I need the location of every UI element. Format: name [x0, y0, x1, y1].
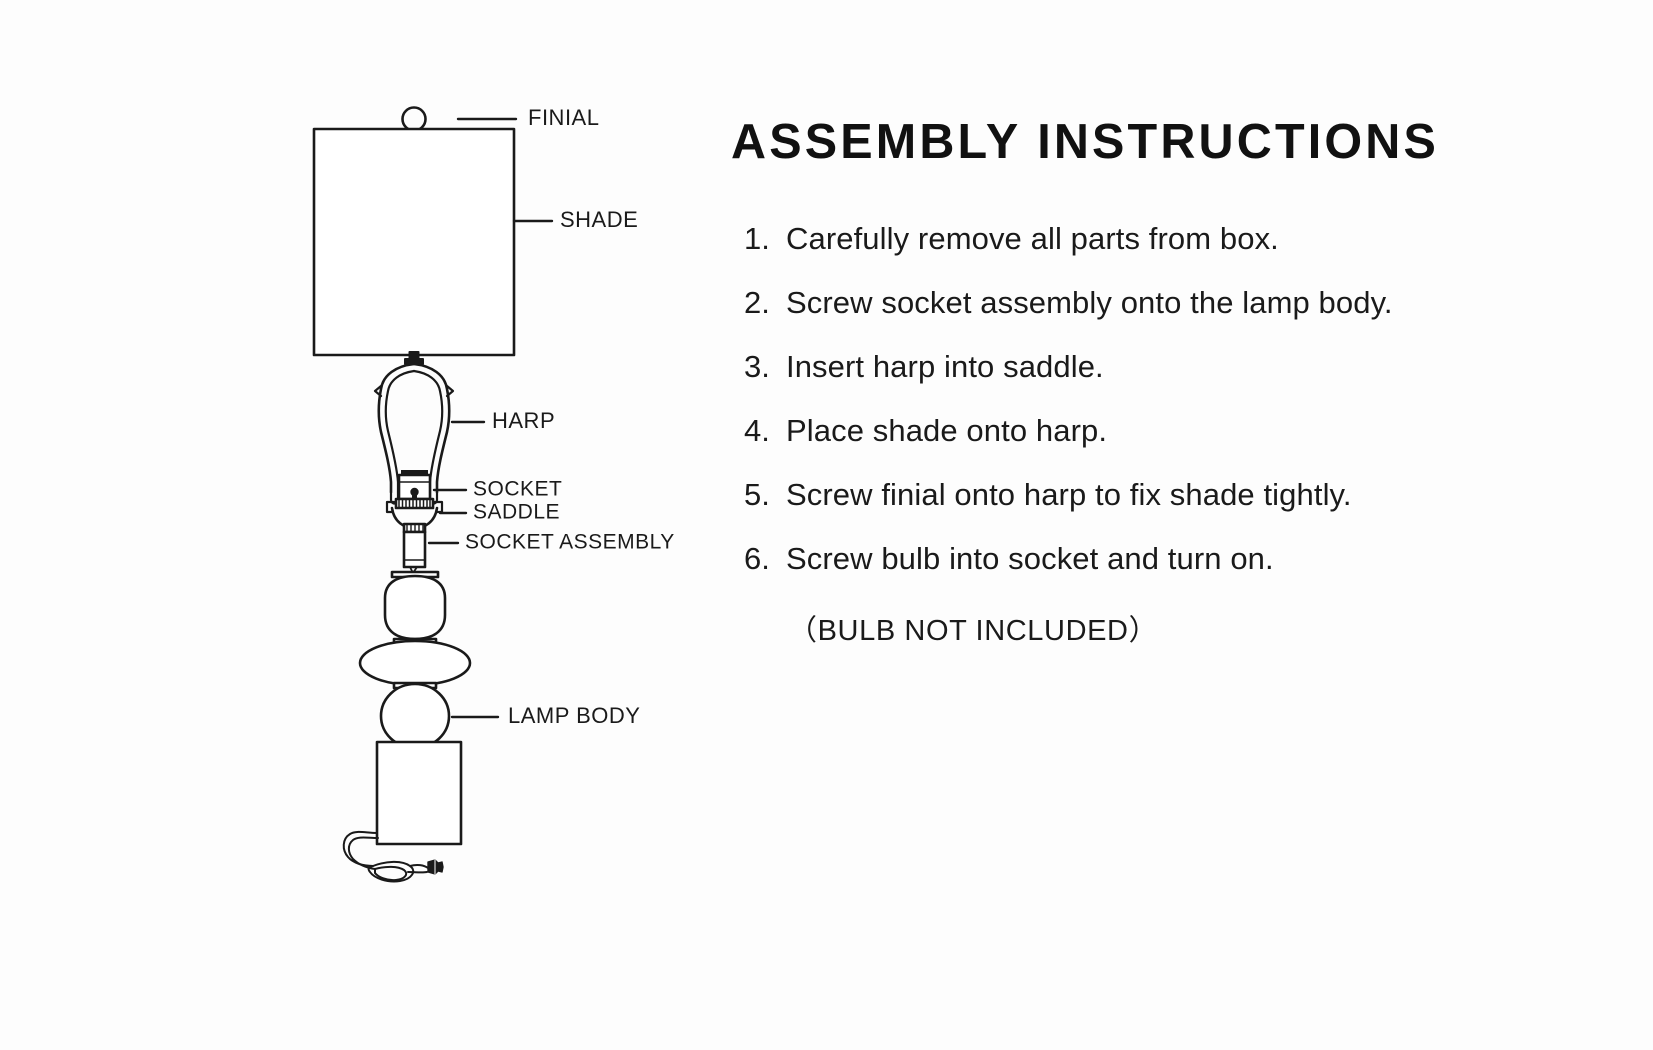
step-number: 4. — [744, 415, 786, 446]
bulb-not-included-note: （BULB NOT INCLUDED） — [788, 607, 1628, 649]
step-item: 6. Screw bulb into socket and turn on. — [728, 543, 1628, 574]
page-title: ASSEMBLY INSTRUCTIONS — [731, 118, 1619, 167]
step-number: 2. — [744, 287, 786, 318]
shade-icon — [314, 129, 514, 355]
step-number: 3. — [744, 351, 786, 382]
step-text: Insert harp into saddle. — [786, 351, 1104, 382]
lamp-body-sphere-icon — [381, 683, 449, 748]
label-harp: HARP — [492, 408, 555, 433]
diagram-panel: FINIAL SHADE HARP SOCKET SADDLE SOCKET A… — [0, 0, 720, 1050]
exploded-lamp-assembly-diagram: FINIAL SHADE HARP SOCKET SADDLE SOCKET A… — [0, 0, 720, 1050]
step-number: 5. — [744, 479, 786, 510]
plug-icon — [428, 860, 443, 874]
step-item: 2. Screw socket assembly onto the lamp b… — [728, 287, 1628, 318]
steps-list: 1. Carefully remove all parts from box. … — [728, 223, 1628, 574]
label-shade: SHADE — [560, 207, 638, 232]
step-number: 6. — [744, 543, 786, 574]
socket-icon — [399, 470, 430, 499]
finial-icon — [403, 108, 426, 131]
socket-assembly-icon — [404, 532, 425, 567]
lamp-body-oval-top-icon — [385, 572, 445, 639]
label-lamp-body: LAMP BODY — [508, 703, 640, 728]
step-text: Screw finial onto harp to fix shade tigh… — [786, 479, 1352, 510]
lamp-body-disc-icon — [360, 639, 470, 685]
page-root: FINIAL SHADE HARP SOCKET SADDLE SOCKET A… — [0, 0, 1653, 1050]
step-item: 4. Place shade onto harp. — [728, 415, 1628, 446]
label-socket: SOCKET — [473, 478, 562, 501]
step-item: 3. Insert harp into saddle. — [728, 351, 1628, 382]
label-finial: FINIAL — [528, 105, 599, 130]
label-saddle: SADDLE — [473, 501, 560, 524]
step-number: 1. — [744, 223, 786, 254]
step-item: 1. Carefully remove all parts from box. — [728, 223, 1628, 254]
lamp-base-icon — [377, 742, 461, 844]
step-text: Screw bulb into socket and turn on. — [786, 543, 1274, 574]
step-text: Screw socket assembly onto the lamp body… — [786, 287, 1393, 318]
step-text: Carefully remove all parts from box. — [786, 223, 1279, 254]
label-socket-assembly: SOCKET ASSEMBLY — [465, 531, 675, 554]
saddle-icon — [387, 499, 442, 532]
step-text: Place shade onto harp. — [786, 415, 1107, 446]
instructions-panel: ASSEMBLY INSTRUCTIONS 1. Carefully remov… — [728, 118, 1628, 649]
step-item: 5. Screw finial onto harp to fix shade t… — [728, 479, 1628, 510]
